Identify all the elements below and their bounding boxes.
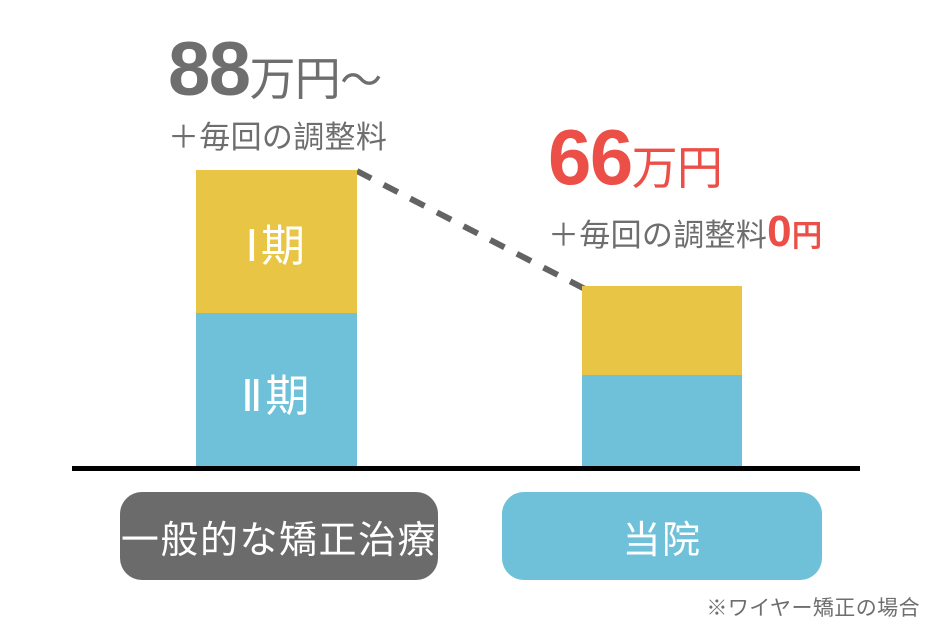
bar-segment-phase1: Ⅰ期 xyxy=(196,170,357,313)
general-price-tilde: ～ xyxy=(340,57,381,104)
clinic-adjustment-zero: 0 xyxy=(767,207,792,256)
footnote-note: ※ワイヤー矯正の場合 xyxy=(706,592,920,622)
category-pill-general-treatment: 一般的な矯正治療 xyxy=(120,492,438,580)
general-price-adjustment-note: ＋毎回の調整料 xyxy=(168,122,387,153)
general-price-unit: 万円 xyxy=(250,53,341,105)
clinic-adjustment-zero-unit: 円 xyxy=(792,220,822,253)
category-pill-our-clinic: 当院 xyxy=(502,492,822,580)
general-price-main: 88万円～ xyxy=(168,32,387,108)
general-price-number: 88 xyxy=(168,27,250,112)
category-pill-general-label: 一般的な矯正治療 xyxy=(121,509,437,564)
bar-general-treatment: Ⅰ期 Ⅱ期 xyxy=(196,170,357,470)
general-treatment-price-label: 88万円～ ＋毎回の調整料 xyxy=(168,32,387,153)
bar-segment-phase1 xyxy=(582,286,742,375)
clinic-price-unit: 万円 xyxy=(632,142,723,194)
bar-our-clinic xyxy=(582,286,742,470)
cost-comparison-chart: 88万円～ ＋毎回の調整料 66万円 ＋毎回の調整料0円 Ⅰ期 Ⅱ期 一般的な矯… xyxy=(0,0,938,626)
bar-segment-phase2 xyxy=(582,375,742,470)
category-pill-clinic-label: 当院 xyxy=(622,509,701,564)
trend-connector-dashed-line xyxy=(350,162,592,298)
bar-segment-phase2: Ⅱ期 xyxy=(196,313,357,470)
baseline-axis xyxy=(72,466,860,471)
